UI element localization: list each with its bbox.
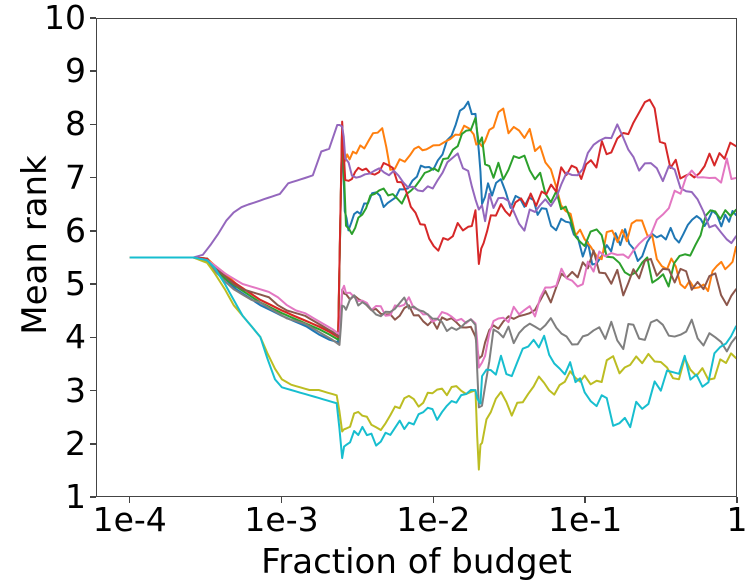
y-tick-label: 4: [65, 320, 86, 353]
x-tick-label: 1e-1: [548, 503, 622, 536]
y-tick-label: 1: [65, 480, 86, 513]
y-tick-mark: [90, 390, 96, 392]
line-series: [131, 100, 736, 337]
y-tick-mark: [90, 496, 96, 498]
x-tick-mark: [433, 497, 435, 503]
x-tick-mark: [281, 497, 283, 503]
x-axis-label: Fraction of budget: [96, 545, 737, 579]
y-axis-label: Mean rank: [18, 80, 52, 410]
y-tick-mark: [90, 17, 96, 19]
y-tick-mark: [90, 177, 96, 179]
y-tick-label: 9: [65, 54, 86, 87]
y-tick-mark: [90, 443, 96, 445]
x-tick-label: 1e-2: [396, 503, 470, 536]
y-tick-mark: [90, 337, 96, 339]
chart-figure: 12345678910 Mean rank Fraction of budget…: [0, 0, 747, 586]
y-tick-mark: [90, 124, 96, 126]
x-tick-label: 1e-4: [93, 503, 167, 536]
x-tick-label: 1: [727, 503, 747, 536]
y-tick-label: 6: [65, 214, 86, 247]
y-tick-label: 2: [65, 427, 86, 460]
y-tick-mark: [90, 283, 96, 285]
x-tick-label: 1e-3: [244, 503, 318, 536]
y-tick-label: 3: [65, 374, 86, 407]
y-tick-mark: [90, 70, 96, 72]
line-series: [131, 102, 736, 343]
line-series-svg: [97, 19, 736, 496]
y-tick-label: 7: [65, 161, 86, 194]
y-tick-mark: [90, 230, 96, 232]
y-tick-label: 5: [65, 267, 86, 300]
line-series: [131, 258, 736, 470]
y-tick-label: 8: [65, 107, 86, 140]
line-series: [131, 250, 736, 358]
plot-area: [96, 18, 737, 497]
x-tick-mark: [129, 497, 131, 503]
x-tick-mark: [584, 497, 586, 503]
y-tick-label: 10: [44, 1, 86, 34]
x-tick-mark: [736, 497, 738, 503]
line-series: [131, 109, 736, 337]
